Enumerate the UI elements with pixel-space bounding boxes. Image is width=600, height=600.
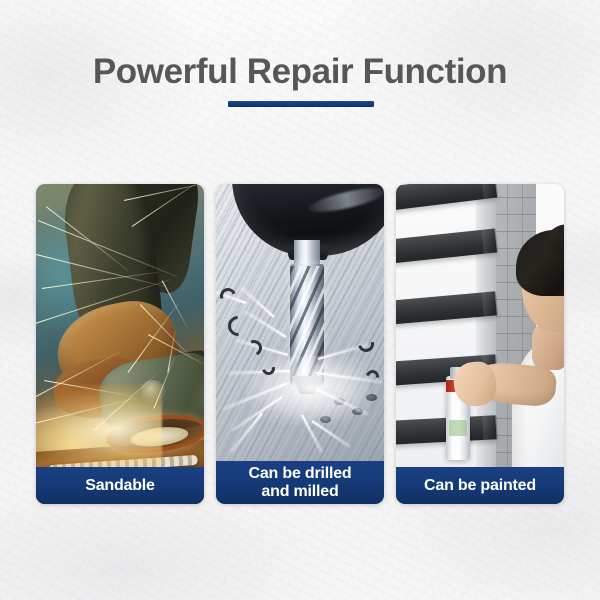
spark-streaks — [36, 184, 204, 504]
card-caption: Can be painted — [396, 467, 564, 504]
card-caption: Sandable — [36, 467, 204, 504]
feature-card-drilled-milled[interactable]: Can be drilled and milled — [216, 184, 384, 504]
spray-painting-slats-photo — [396, 184, 564, 504]
page-title: Powerful Repair Function — [0, 52, 600, 92]
feature-panels: Sandable — [36, 184, 564, 504]
angle-grinder-sparks-photo — [36, 184, 204, 504]
feature-card-painted[interactable]: Can be painted — [396, 184, 564, 504]
caption-line: and milled — [245, 483, 356, 501]
drill-bit-milling-metal-photo — [216, 184, 384, 504]
caption-line: Can be drilled — [245, 465, 356, 483]
card-caption: Can be drilled and milled — [216, 461, 384, 504]
title-underline-accent — [228, 101, 374, 107]
caption-line: Can be painted — [420, 477, 540, 495]
metal-chips — [216, 184, 384, 504]
header: Powerful Repair Function — [0, 0, 600, 180]
feature-card-sandable[interactable]: Sandable — [36, 184, 204, 504]
caption-line: Sandable — [81, 477, 159, 495]
